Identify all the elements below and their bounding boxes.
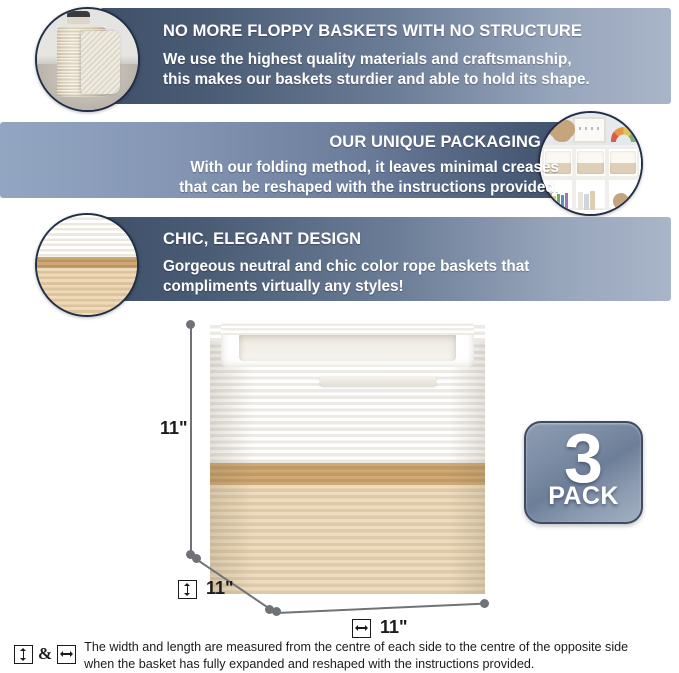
footnote-icon-group: & (14, 639, 76, 664)
dimension-line-width (277, 603, 485, 614)
feature-heading: NO MORE FLOPPY BASKETS WITH NO STRUCTURE (163, 22, 582, 40)
feature-heading: CHIC, ELEGANT DESIGN (163, 230, 361, 248)
feature-body-line-1: We use the highest quality materials and… (163, 50, 590, 70)
measurement-footnote: & The width and length are measured from… (14, 639, 669, 673)
dimension-label-width: 11" (352, 617, 408, 638)
footnote-line-1: The width and length are measured from t… (84, 639, 628, 656)
feature-body-line-1: Gorgeous neutral and chic color rope bas… (163, 257, 529, 277)
basket-rim (221, 321, 474, 367)
basket-with-towel-photo (35, 7, 140, 112)
horizontal-arrow-box-icon (57, 645, 76, 664)
feature-banner-packaging: OUR UNIQUE PACKAGING With our folding me… (0, 122, 679, 198)
footnote-text: The width and length are measured from t… (84, 639, 628, 673)
feature-banner-structure: NO MORE FLOPPY BASKETS WITH NO STRUCTURE… (0, 8, 679, 104)
dimension-dot-width-right (480, 599, 489, 608)
footnote-line-2: when the basket has fully expanded and r… (84, 656, 628, 673)
basket-handle (320, 376, 436, 386)
feature-heading: OUR UNIQUE PACKAGING (329, 133, 541, 151)
feature-banner-design: CHIC, ELEGANT DESIGN Gorgeous neutral an… (0, 217, 679, 301)
horizontal-arrow-box-icon (352, 619, 371, 638)
feature-body-line-2: compliments virtually any styles! (163, 277, 529, 297)
feature-body-line-1: With our folding method, it leaves minim… (179, 158, 559, 178)
three-pack-badge: 3 PACK (524, 421, 643, 524)
rope-basket-product-image (210, 322, 485, 594)
ampersand-label: & (38, 644, 52, 664)
vertical-arrow-box-icon (14, 645, 33, 664)
dimension-line-height (190, 326, 192, 554)
dimension-label-depth: 11" (178, 578, 234, 599)
pack-unit-label: PACK (548, 484, 619, 509)
dimension-label-height: 11" (160, 418, 188, 439)
feature-body-line-2: this makes our baskets sturdier and able… (163, 70, 590, 90)
feature-body-line-2: that can be reshaped with the instructio… (179, 178, 559, 198)
vertical-arrow-box-icon (178, 580, 197, 599)
pack-count: 3 (564, 430, 603, 487)
